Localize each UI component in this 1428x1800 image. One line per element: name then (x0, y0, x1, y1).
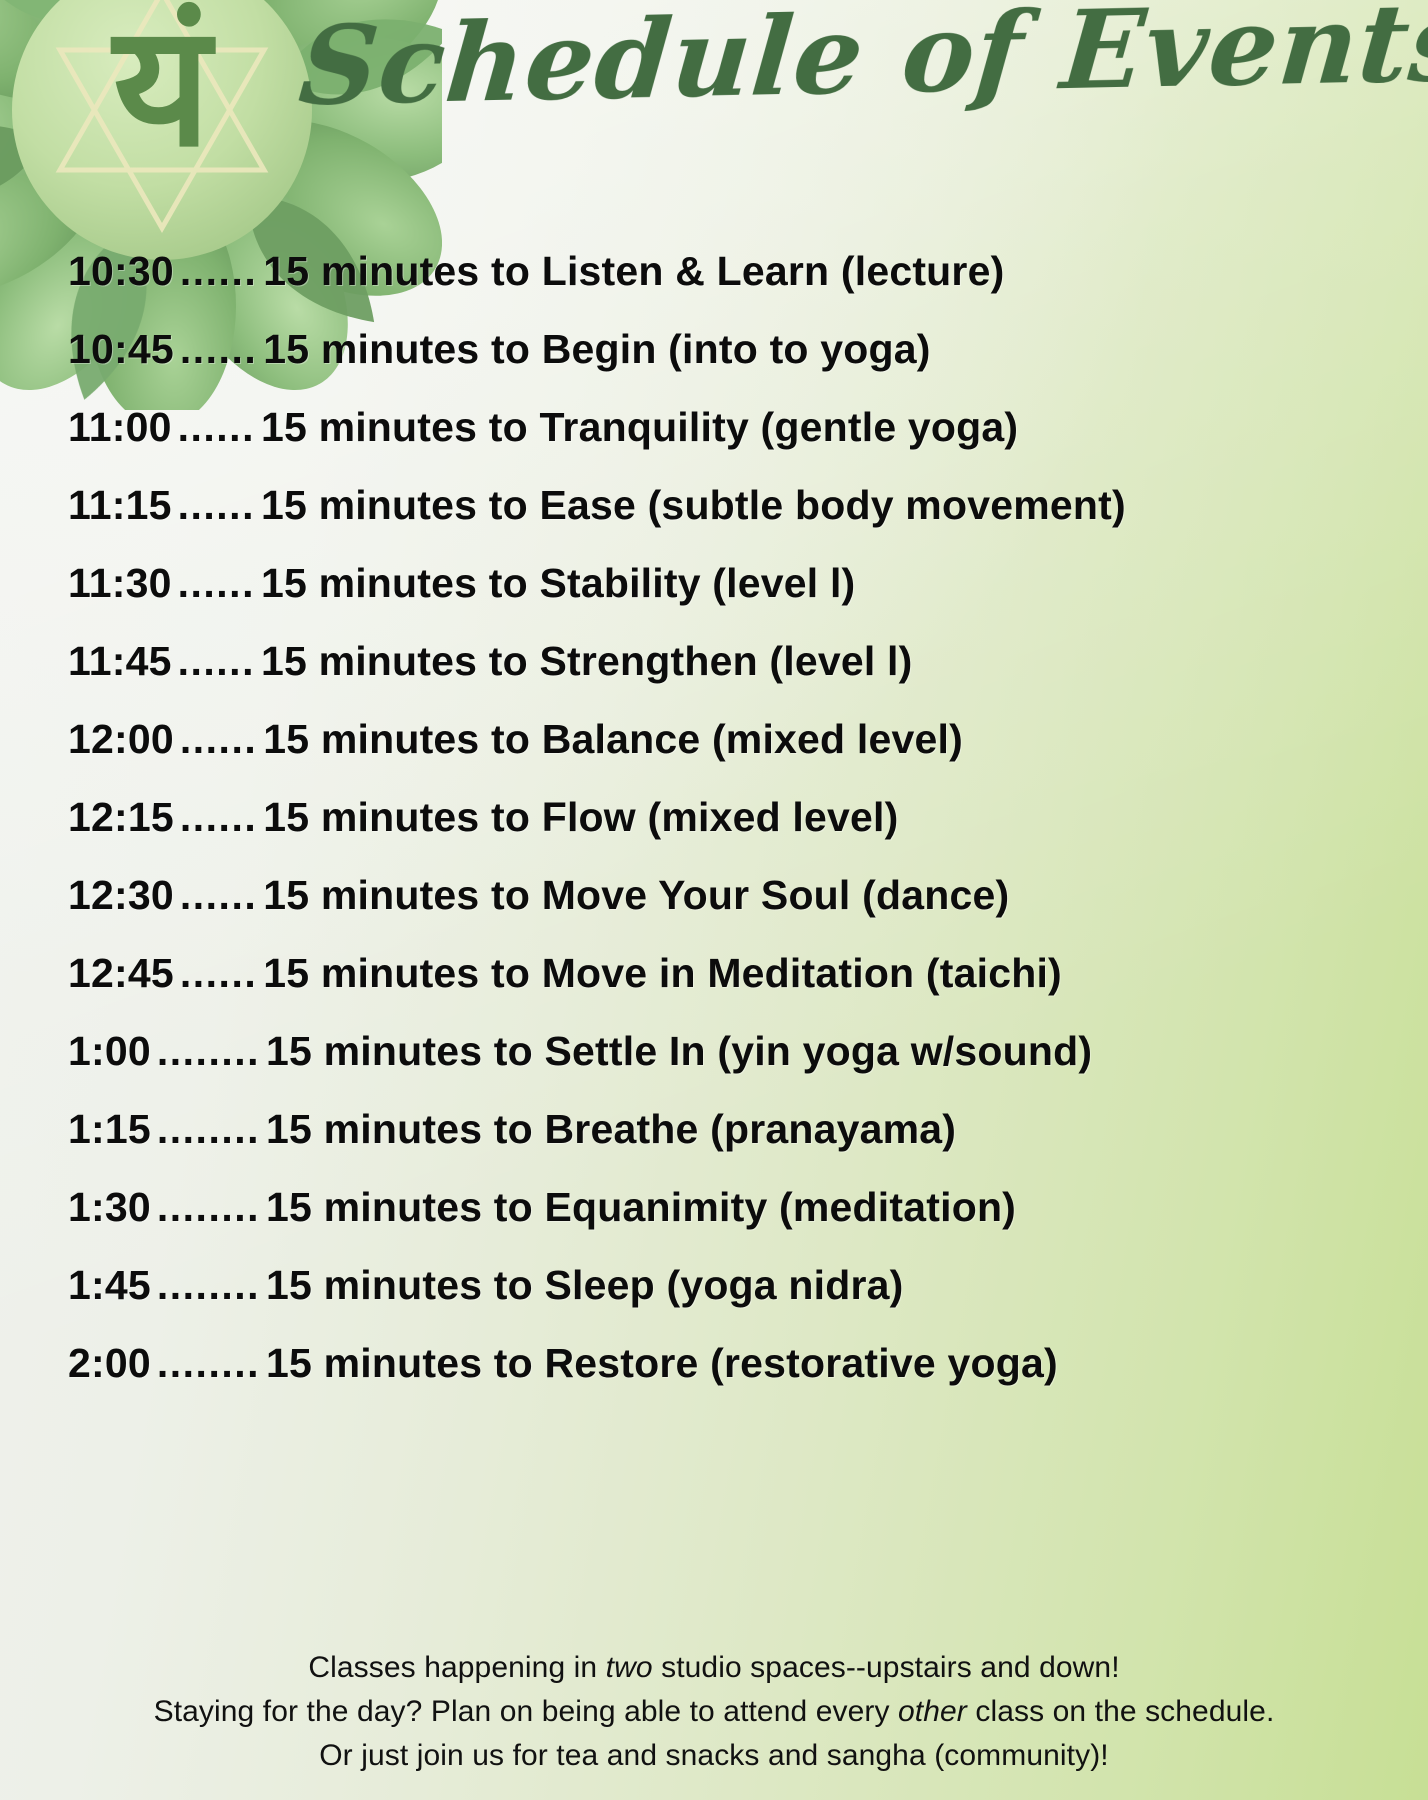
row-leader-dots: ........ (157, 1184, 260, 1231)
footer-line-2-emphasis: other (898, 1695, 967, 1728)
schedule-list: 10:30 ...... 15 minutes to Listen & Lear… (0, 248, 1428, 1418)
row-time: 2:00 (68, 1340, 151, 1387)
schedule-row: 2:00 ........ 15 minutes to Restore (res… (0, 1340, 1428, 1418)
schedule-row: 11:30 ...... 15 minutes to Stability (le… (0, 560, 1428, 638)
row-time: 1:00 (68, 1028, 151, 1075)
row-description: 15 minutes to Equanimity (meditation) (266, 1184, 1016, 1231)
row-leader-dots: ........ (157, 1028, 260, 1075)
row-description: 15 minutes to Move Your Soul (dance) (263, 872, 1009, 919)
row-leader-dots: ........ (157, 1106, 260, 1153)
row-leader-dots: ...... (180, 326, 257, 373)
schedule-row: 1:30 ........ 15 minutes to Equanimity (… (0, 1184, 1428, 1262)
row-time: 12:00 (68, 716, 174, 763)
row-time: 11:00 (68, 404, 172, 451)
footer-line-2-text-a: Staying for the day? Plan on being able … (154, 1695, 898, 1728)
row-time: 10:30 (68, 248, 174, 295)
row-time: 12:15 (68, 794, 174, 841)
schedule-poster: यं Schedule of Events 10:30 ...... 15 mi… (0, 0, 1428, 1800)
schedule-row: 11:15 ...... 15 minutes to Ease (subtle … (0, 482, 1428, 560)
schedule-row: 11:45 ...... 15 minutes to Strengthen (l… (0, 638, 1428, 716)
schedule-row: 12:30 ...... 15 minutes to Move Your Sou… (0, 872, 1428, 950)
footer-notes: Classes happening in two studio spaces--… (0, 1646, 1428, 1778)
row-description: 15 minutes to Breathe (pranayama) (266, 1106, 956, 1153)
row-leader-dots: ........ (157, 1262, 260, 1309)
footer-line-1: Classes happening in two studio spaces--… (0, 1646, 1428, 1690)
footer-line-2: Staying for the day? Plan on being able … (0, 1690, 1428, 1734)
row-description: 15 minutes to Strengthen (level l) (261, 638, 913, 685)
row-leader-dots: ...... (180, 872, 257, 919)
row-leader-dots: ...... (180, 716, 257, 763)
row-description: 15 minutes to Move in Meditation (taichi… (263, 950, 1062, 997)
schedule-row: 11:00 ...... 15 minutes to Tranquility (… (0, 404, 1428, 482)
row-leader-dots: ...... (178, 560, 255, 607)
row-description: 15 minutes to Balance (mixed level) (263, 716, 963, 763)
row-description: 15 minutes to Settle In (yin yoga w/soun… (266, 1028, 1092, 1075)
schedule-row: 10:30 ...... 15 minutes to Listen & Lear… (0, 248, 1428, 326)
row-time: 1:30 (68, 1184, 151, 1231)
row-leader-dots: ........ (157, 1340, 260, 1387)
row-description: 15 minutes to Listen & Learn (lecture) (263, 248, 1004, 295)
footer-line-2-text-b: class on the schedule. (967, 1695, 1275, 1728)
row-leader-dots: ...... (180, 950, 257, 997)
row-time: 12:30 (68, 872, 174, 919)
footer-line-3: Or just join us for tea and snacks and s… (0, 1734, 1428, 1778)
row-time: 1:45 (68, 1262, 151, 1309)
row-description: 15 minutes to Tranquility (gentle yoga) (261, 404, 1018, 451)
row-time: 11:15 (68, 482, 172, 529)
row-description: 15 minutes to Sleep (yoga nidra) (266, 1262, 903, 1309)
schedule-row: 12:00 ...... 15 minutes to Balance (mixe… (0, 716, 1428, 794)
footer-line-1-text-a: Classes happening in (308, 1651, 605, 1684)
row-leader-dots: ...... (180, 248, 257, 295)
page-title: Schedule of Events (294, 0, 1088, 142)
row-time: 12:45 (68, 950, 174, 997)
footer-line-1-emphasis: two (606, 1651, 653, 1684)
schedule-row: 12:15 ...... 15 minutes to Flow (mixed l… (0, 794, 1428, 872)
schedule-row: 10:45 ...... 15 minutes to Begin (into t… (0, 326, 1428, 404)
row-time: 1:15 (68, 1106, 151, 1153)
row-description: 15 minutes to Flow (mixed level) (263, 794, 898, 841)
row-description: 15 minutes to Begin (into to yoga) (263, 326, 930, 373)
row-leader-dots: ...... (178, 482, 255, 529)
schedule-row: 1:00 ........ 15 minutes to Settle In (y… (0, 1028, 1428, 1106)
row-description: 15 minutes to Stability (level l) (261, 560, 855, 607)
row-leader-dots: ...... (178, 638, 255, 685)
schedule-row: 12:45 ...... 15 minutes to Move in Medit… (0, 950, 1428, 1028)
row-description: 15 minutes to Ease (subtle body movement… (261, 482, 1126, 529)
footer-line-1-text-b: studio spaces--upstairs and down! (653, 1651, 1120, 1684)
schedule-row: 1:45 ........ 15 minutes to Sleep (yoga … (0, 1262, 1428, 1340)
bija-syllable-glyph: यं (110, 0, 216, 184)
row-description: 15 minutes to Restore (restorative yoga) (266, 1340, 1058, 1387)
row-leader-dots: ...... (180, 794, 257, 841)
row-time: 11:30 (68, 560, 172, 607)
row-time: 10:45 (68, 326, 174, 373)
row-leader-dots: ...... (178, 404, 255, 451)
row-time: 11:45 (68, 638, 172, 685)
schedule-row: 1:15 ........ 15 minutes to Breathe (pra… (0, 1106, 1428, 1184)
